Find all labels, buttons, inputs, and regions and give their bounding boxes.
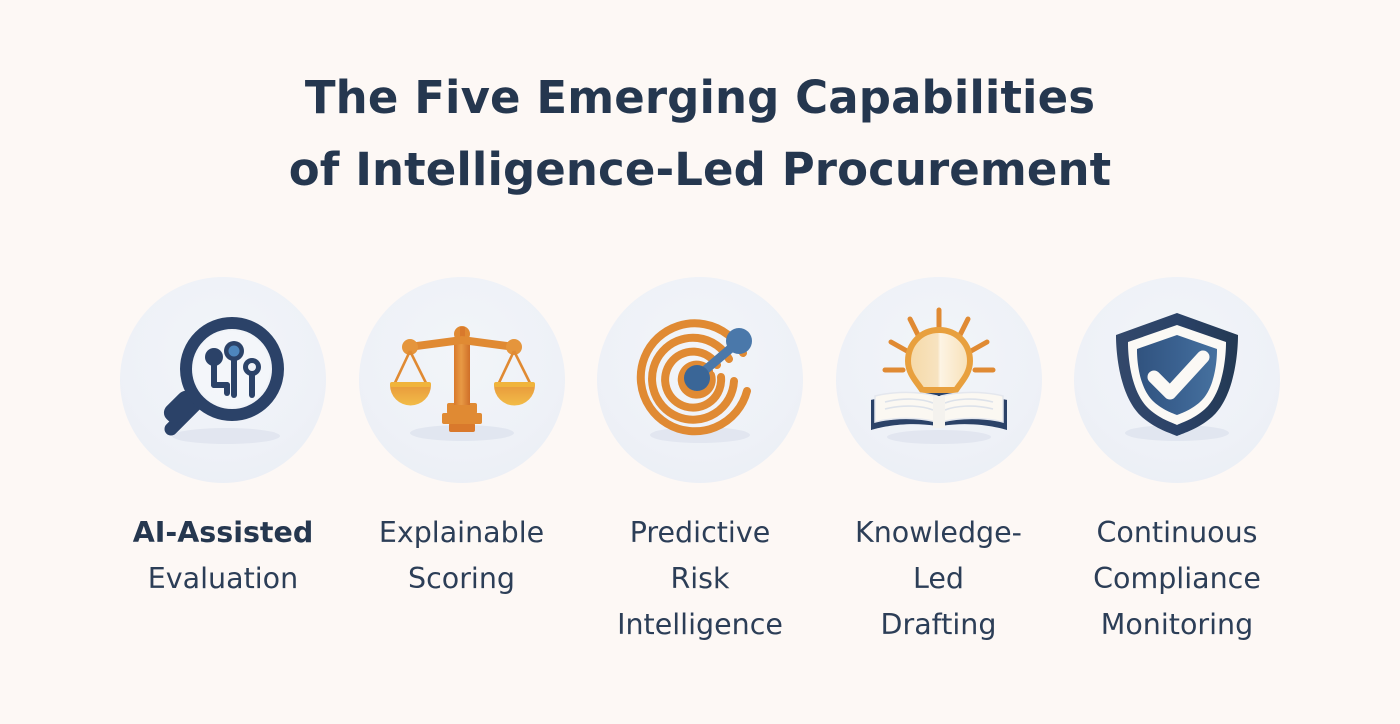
capability-label-5-line-2: Compliance [1052,556,1302,602]
shield-check-icon [1102,305,1252,455]
capability-label-3-line-2: Risk [575,556,825,602]
capability-label-3-line-1: Predictive [575,510,825,556]
capability-label-1: AI-Assisted Evaluation [98,510,348,602]
capability-label-5: Continuous Compliance Monitoring [1052,510,1302,648]
capability-label-4-line-3: Drafting [814,602,1064,648]
capability-label-5-line-3: Monitoring [1052,602,1302,648]
page-title: The Five Emerging Capabilities of Intell… [0,62,1400,206]
capability-label-3-line-3: Intelligence [575,602,825,648]
capability-label-4-line-2: Led [814,556,1064,602]
balance-scales-icon [387,305,537,455]
icon-circle-3 [597,277,803,483]
capability-card-ai-assisted-evaluation: AI-Assisted Evaluation [104,277,342,602]
capability-label-5-line-1: Continuous [1052,510,1302,556]
lightbulb-open-book-icon [863,304,1015,456]
icon-circle-1 [120,277,326,483]
title-line-2: of Intelligence-Led Procurement [0,134,1400,206]
capability-label-2-line-1: Explainable [337,510,587,556]
title-line-1: The Five Emerging Capabilities [0,62,1400,134]
icon-circle-5 [1074,277,1280,483]
icon-circle-2 [359,277,565,483]
capability-label-2: Explainable Scoring [337,510,587,602]
capability-row: AI-Assisted Evaluation [104,277,1296,648]
infographic-poster: The Five Emerging Capabilities of Intell… [0,0,1400,724]
magnifier-data-nodes-icon [148,305,298,455]
capability-card-knowledge-led-drafting: Knowledge- Led Drafting [820,277,1058,648]
capability-label-3: Predictive Risk Intelligence [575,510,825,648]
icon-circle-4 [836,277,1042,483]
capability-card-continuous-compliance-monitoring: Continuous Compliance Monitoring [1058,277,1296,648]
capability-card-explainable-scoring: Explainable Scoring [343,277,581,602]
radar-target-icon [625,305,775,455]
capability-label-2-line-2: Scoring [337,556,587,602]
capability-label-4: Knowledge- Led Drafting [814,510,1064,648]
capability-label-1-line-2: Evaluation [98,556,348,602]
capability-label-1-line-1: AI-Assisted [98,510,348,556]
capability-card-predictive-risk-intelligence: Predictive Risk Intelligence [581,277,819,648]
capability-label-4-line-1: Knowledge- [814,510,1064,556]
